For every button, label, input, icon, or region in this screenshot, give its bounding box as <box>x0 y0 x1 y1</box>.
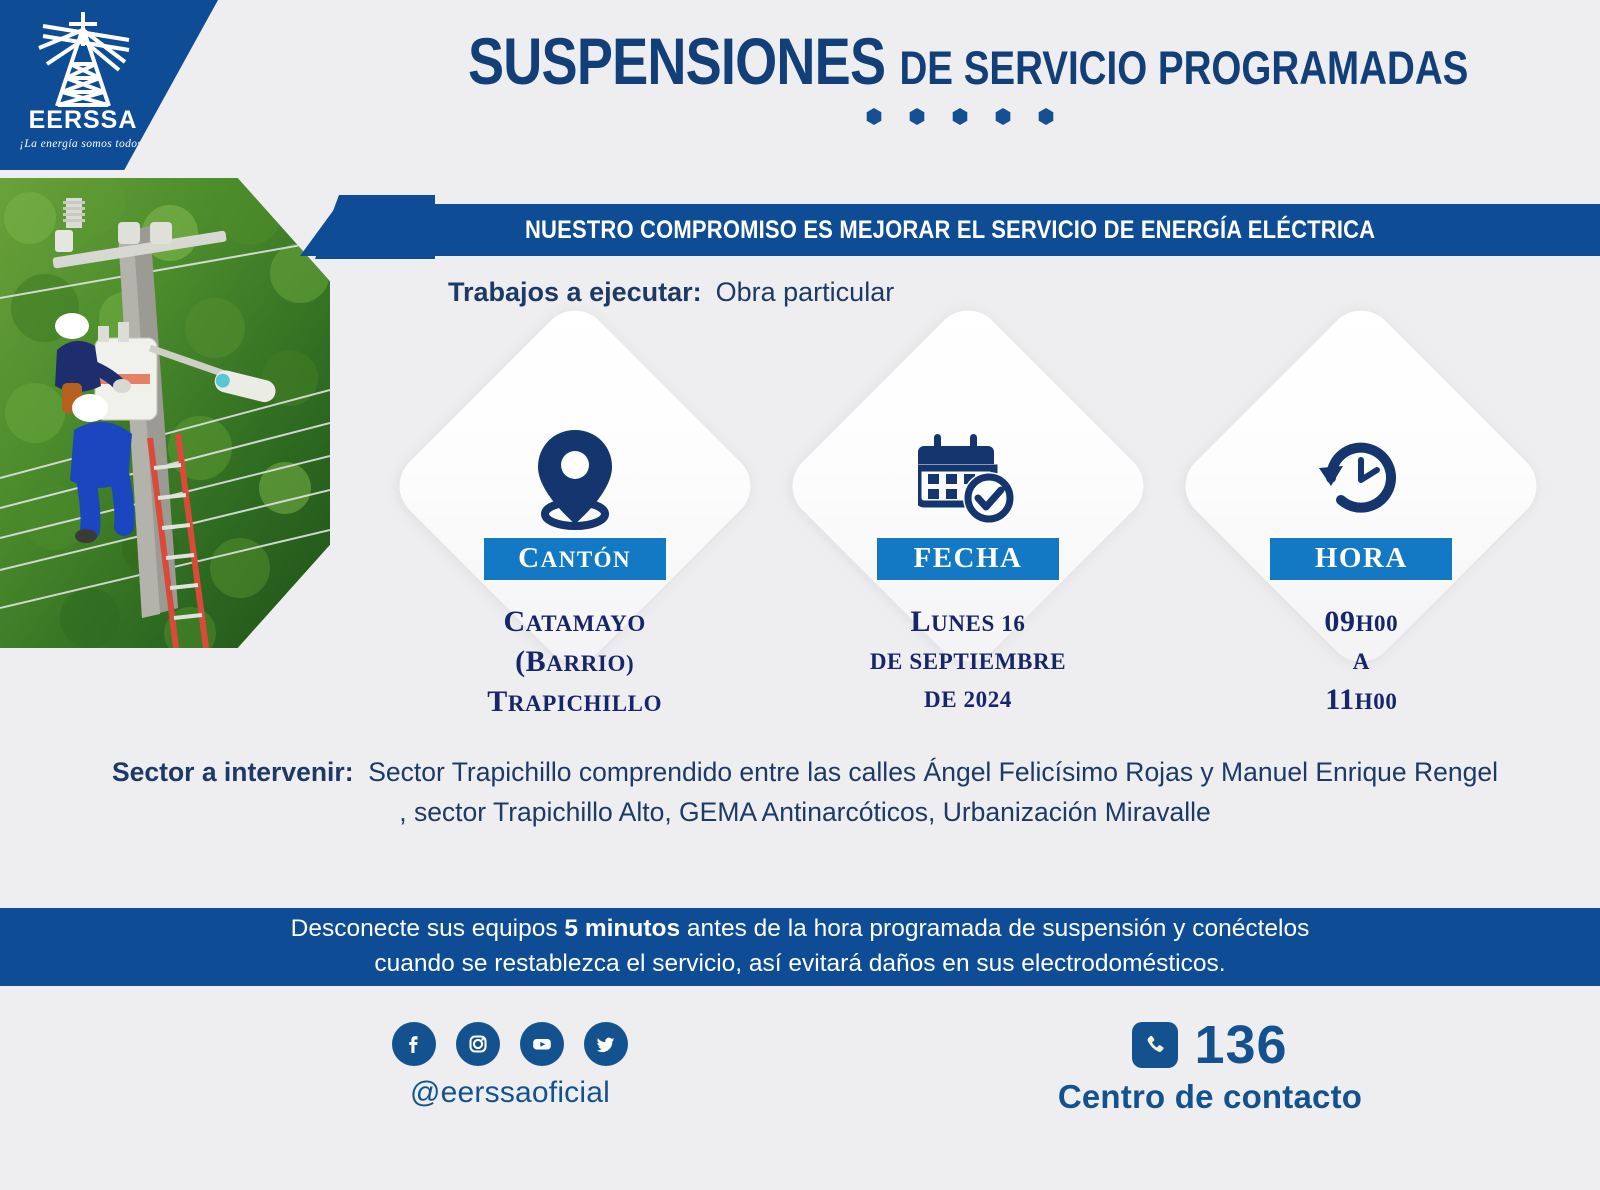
works-label: Trabajos a ejecutar: <box>448 277 702 308</box>
dot-icon <box>866 108 883 125</box>
contact-row: 136 <box>1132 1018 1287 1072</box>
card-value-hora: 09H00 A 11H00 <box>1324 602 1398 719</box>
contact-label: Centro de contacto <box>1058 1078 1362 1116</box>
value-line-rest: ATAMAYO <box>526 611 646 636</box>
badge-first: C <box>518 542 540 574</box>
value-line-rest: 2024 <box>957 687 1012 712</box>
notice-bar: Desconecte sus equipos 5 minutos antes d… <box>0 908 1600 986</box>
value-line-first: 09 <box>1324 605 1355 638</box>
calendar-check-icon <box>918 424 1018 532</box>
page-title-rest: DE SERVICIO PROGRAMADAS <box>899 41 1468 94</box>
notice-1c: antes de la hora programada de suspensió… <box>680 915 1309 942</box>
transmission-tower-icon <box>25 6 141 122</box>
social-handle[interactable]: @eerssaoficial <box>410 1076 610 1110</box>
brand-name: EERSSA <box>29 108 138 133</box>
dot-icon <box>952 108 969 125</box>
notice-1b: 5 minutos <box>564 915 680 942</box>
commitment-banner: NUESTRO COMPROMISO ES MEJORAR EL SERVICI… <box>300 204 1600 256</box>
sector-paragraph: Sector a intervenir: Sector Trapichillo … <box>110 752 1500 833</box>
brand-slogan: ¡La energía somos todos! <box>19 138 146 150</box>
eerssa-logo-panel: EERSSA ¡La energía somos todos! <box>0 0 218 170</box>
works-value: Obra particular <box>716 277 895 308</box>
badge-first: FECHA <box>913 542 1022 574</box>
card-badge-canton: CANTÓN <box>484 538 666 580</box>
card-value-canton: CATAMAYO (BARRIO) TRAPICHILLO <box>487 602 662 722</box>
card-canton: CANTÓN CATAMAYO (BARRIO) TRAPICHILLO <box>378 362 771 722</box>
value-line-first: 11 <box>1325 683 1355 716</box>
dot-icon <box>1038 108 1055 125</box>
value-line-first: DE <box>870 649 903 674</box>
notice-1a: Desconecte sus equipos <box>291 915 565 942</box>
info-cards: CANTÓN CATAMAYO (BARRIO) TRAPICHILLO <box>378 362 1558 722</box>
twitter-icon[interactable] <box>584 1022 628 1066</box>
value-line-rest: SEPTIEMBRE <box>903 649 1066 674</box>
badge-rest: ANTÓN <box>541 547 632 572</box>
value-line-first: DE <box>924 687 957 712</box>
phone-icon <box>1132 1022 1178 1068</box>
value-line-first: (B <box>515 645 546 678</box>
contact-block: 136 Centro de contacto <box>1000 1018 1420 1116</box>
value-line-first: T <box>487 685 508 718</box>
works-line: Trabajos a ejecutar: Obra particular <box>448 277 894 308</box>
card-badge-hora: HORA <box>1270 538 1452 580</box>
page-footer: @eerssaoficial 136 Centro de contacto <box>0 1000 1600 1140</box>
sector-label: Sector a intervenir: <box>112 757 354 787</box>
value-line-rest: H00 <box>1355 689 1398 714</box>
sector-text: Sector Trapichillo comprendido entre las… <box>368 757 1498 827</box>
contact-number: 136 <box>1194 1018 1287 1072</box>
photo-illustration <box>0 178 330 648</box>
card-badge-fecha: FECHA <box>877 538 1059 580</box>
notice-line-2: cuando se restablezca el servicio, así e… <box>374 947 1225 982</box>
dot-icon <box>909 108 926 125</box>
value-line-first: C <box>503 605 525 638</box>
value-line-first: L <box>911 605 932 638</box>
social-icon-row <box>392 1022 628 1066</box>
value-line-rest: UNES 16 <box>931 611 1025 636</box>
page-header: SUSPENSIONES DE SERVICIO PROGRAMADAS <box>360 28 1560 168</box>
card-value-fecha: LUNES 16 DE SEPTIEMBRE DE 2024 <box>870 602 1066 716</box>
clock-restore-icon <box>1311 424 1411 532</box>
social-block: @eerssaoficial <box>380 1022 640 1110</box>
youtube-icon[interactable] <box>520 1022 564 1066</box>
instagram-icon[interactable] <box>456 1022 500 1066</box>
poster-canvas: EERSSA ¡La energía somos todos! SUSPENSI… <box>0 0 1600 1190</box>
value-line-rest: ARRIO) <box>546 651 634 676</box>
page-title-strong: SUSPENSIONES <box>468 24 885 98</box>
dot-icon <box>995 108 1012 125</box>
card-fecha: FECHA LUNES 16 DE SEPTIEMBRE DE 2024 <box>771 362 1164 722</box>
commitment-banner-text: NUESTRO COMPROMISO ES MEJORAR EL SERVICI… <box>525 216 1375 245</box>
crew-working-photo <box>0 178 330 648</box>
value-line-rest: RAPICHILLO <box>508 691 662 716</box>
card-hora: HORA 09H00 A 11H00 <box>1165 362 1558 722</box>
facebook-icon[interactable] <box>392 1022 436 1066</box>
page-title: SUSPENSIONES DE SERVICIO PROGRAMADAS <box>468 28 1452 94</box>
value-line-rest: H00 <box>1356 611 1399 636</box>
badge-first: HORA <box>1315 542 1408 574</box>
value-line-first: A <box>1353 649 1370 674</box>
map-pin-icon <box>526 424 624 532</box>
decorative-dots <box>360 108 1560 125</box>
notice-line-1: Desconecte sus equipos 5 minutos antes d… <box>291 912 1310 947</box>
